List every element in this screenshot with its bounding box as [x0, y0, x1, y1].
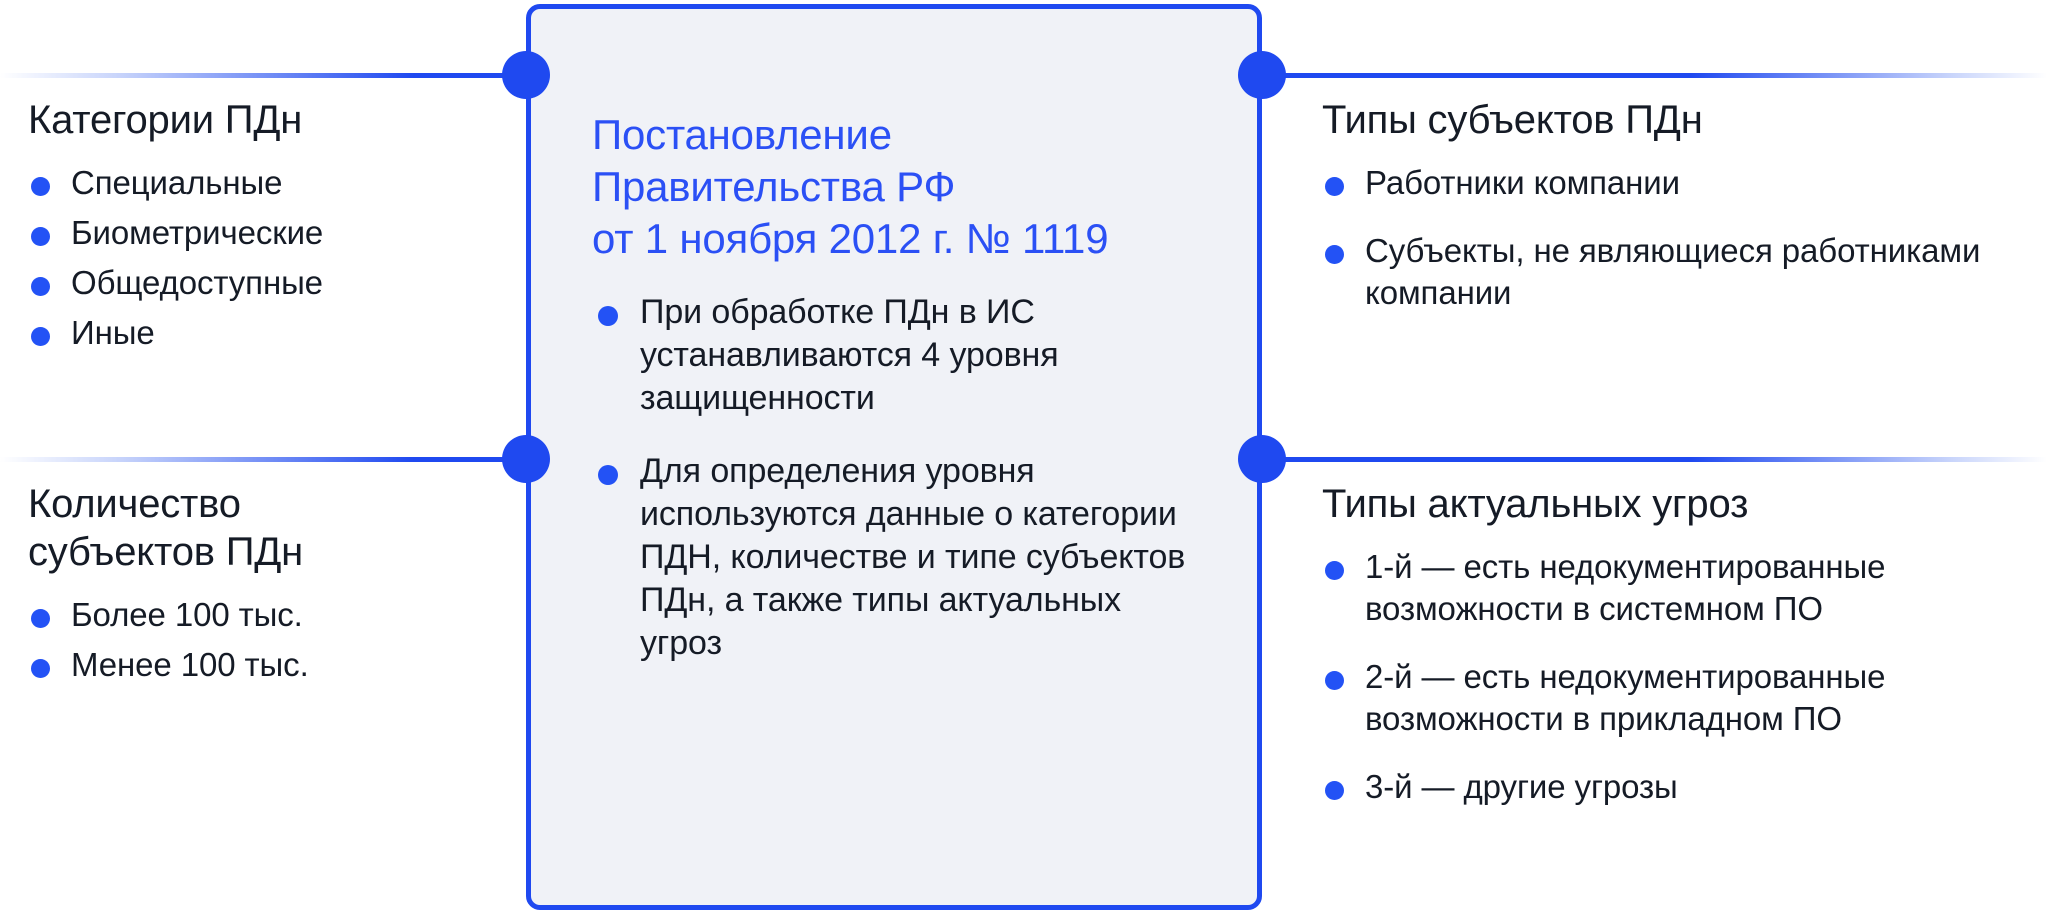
connector-dot-top-left [502, 51, 550, 99]
list-item: Для определения уровня используются данн… [592, 450, 1201, 665]
list-item: Иные [28, 312, 498, 354]
connector-dot-bottom-right [1238, 435, 1286, 483]
list-item: Более 100 тыс. [28, 594, 498, 636]
list-item: Биометрические [28, 212, 498, 254]
connector-line-right-bottom [1255, 457, 2047, 462]
list-item: При обработке ПДн в ИС устанавливаются 4… [592, 291, 1201, 420]
list-item: 3-й — другие угрозы [1322, 766, 2034, 808]
list-item: Специальные [28, 162, 498, 204]
connector-line-left-top [0, 73, 530, 78]
bullet-list-subject-count: Более 100 тыс. Менее 100 тыс. [28, 594, 498, 686]
panel-title-threat-types: Типы актуальных угроз [1322, 480, 2034, 528]
bullet-list-categories: Специальные Биометрические Общедоступные… [28, 162, 498, 354]
connector-dot-bottom-left [502, 435, 550, 483]
connector-line-left-bottom [0, 457, 530, 462]
center-card-content: Постановление Правительства РФ от 1 нояб… [531, 9, 1257, 705]
diagram-canvas: Постановление Правительства РФ от 1 нояб… [0, 0, 2047, 923]
bullet-list-threat-types: 1-й — есть недокументированные возможнос… [1322, 546, 2034, 808]
panel-subject-types: Типы субъектов ПДн Работники компании Су… [1322, 96, 2022, 314]
connector-line-right-top [1255, 73, 2047, 78]
panel-threat-types: Типы актуальных угроз 1-й — есть недокум… [1322, 480, 2034, 808]
list-item: 1-й — есть недокументированные возможнос… [1322, 546, 2034, 630]
bullet-list-subject-types: Работники компании Субъекты, не являющие… [1322, 162, 2022, 314]
center-card-title: Постановление Правительства РФ от 1 нояб… [592, 109, 1201, 265]
list-item: Субъекты, не являющиеся работниками комп… [1322, 230, 2022, 314]
list-item: Общедоступные [28, 262, 498, 304]
list-item: 2-й — есть недокументированные возможнос… [1322, 656, 2034, 740]
panel-subject-count: Количество субъектов ПДн Более 100 тыс. … [28, 480, 498, 694]
list-item: Менее 100 тыс. [28, 644, 498, 686]
panel-title-subject-types: Типы субъектов ПДн [1322, 96, 2022, 144]
panel-categories: Категории ПДн Специальные Биометрические… [28, 96, 498, 362]
connector-dot-top-right [1238, 51, 1286, 99]
panel-title-categories: Категории ПДн [28, 96, 498, 144]
panel-title-subject-count: Количество субъектов ПДн [28, 480, 498, 576]
list-item: Работники компании [1322, 162, 2022, 204]
center-card: Постановление Правительства РФ от 1 нояб… [526, 4, 1262, 910]
center-card-bullet-list: При обработке ПДн в ИС устанавливаются 4… [592, 291, 1201, 665]
